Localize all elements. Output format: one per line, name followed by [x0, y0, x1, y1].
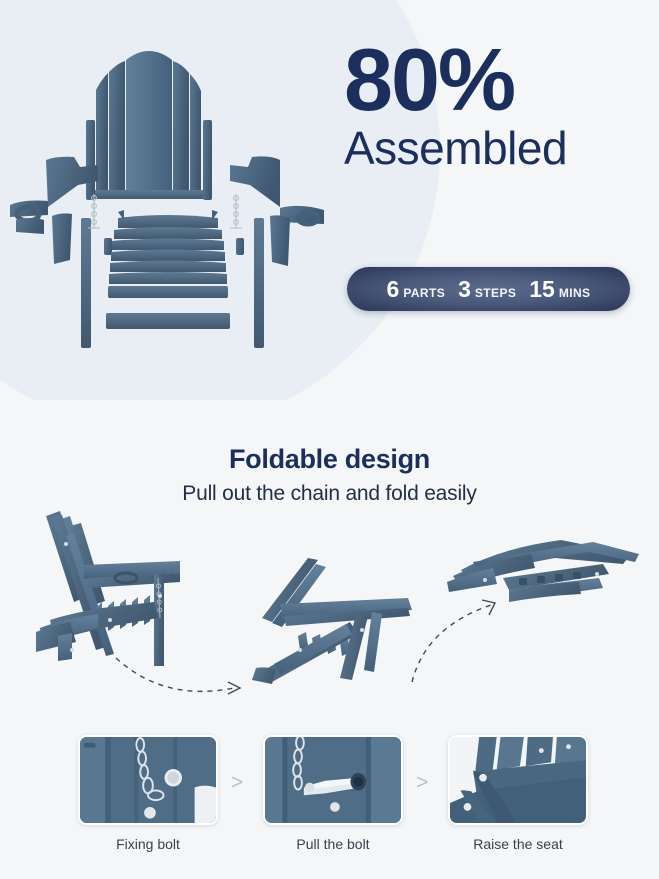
part-seat: [108, 210, 228, 298]
chair-flat-svg: [445, 522, 650, 627]
part-connector-left: [104, 238, 112, 255]
step-3-thumbnail: [448, 735, 588, 825]
exploded-parts-diagram: [8, 30, 338, 370]
part-leg-right: [254, 218, 264, 348]
stage-chair-folded-flat: [445, 522, 650, 627]
exploded-parts-svg: [8, 30, 338, 370]
stat-mins-unit: MINS: [559, 286, 591, 300]
percent-value: 80%: [344, 38, 644, 122]
part-chain-right: [230, 194, 242, 228]
step-1-image: [80, 737, 216, 824]
step-1-caption: Fixing bolt: [78, 836, 218, 852]
arrow-fold-1: [110, 648, 260, 708]
step-separator-1: >: [231, 771, 243, 795]
stat-mins: 15 MINS: [529, 276, 590, 303]
part-leg-left: [81, 218, 91, 348]
step-2-image: [265, 737, 401, 824]
step-2-caption: Pull the bolt: [263, 836, 403, 852]
part-leg-panel-left: [52, 213, 72, 264]
assembled-label: Assembled: [344, 124, 644, 174]
step-2-thumbnail: [263, 735, 403, 825]
stat-steps-number: 3: [458, 276, 471, 303]
part-leg-panel-right: [270, 215, 290, 266]
stat-parts-unit: PARTS: [403, 286, 445, 300]
part-cupholder-left: [10, 201, 48, 235]
step-separator-2: >: [416, 771, 428, 795]
part-stretcher: [106, 313, 230, 329]
stat-parts-number: 6: [387, 276, 400, 303]
step-item-3: Raise the seat: [448, 735, 588, 852]
infographic-page: 80% Assembled 6 PARTS 3 STEPS 15 MINS Fo…: [0, 0, 659, 879]
step-item-2: Pull the bolt: [263, 735, 403, 852]
stats-badge: 6 PARTS 3 STEPS 15 MINS: [347, 267, 630, 311]
step-3-caption: Raise the seat: [448, 836, 588, 852]
step-item-1: Fixing bolt: [78, 735, 218, 852]
stat-parts: 6 PARTS: [387, 276, 446, 303]
stat-mins-number: 15: [529, 276, 555, 303]
step-3-image: [450, 737, 586, 824]
step-1-thumbnail: [78, 735, 218, 825]
stat-steps-unit: STEPS: [475, 286, 516, 300]
steps-row: Fixing bolt >: [0, 735, 659, 865]
headline-block: 80% Assembled: [344, 38, 644, 174]
part-backrest: [86, 51, 212, 200]
folding-stages: [0, 500, 659, 705]
part-connector-right: [236, 238, 244, 255]
stat-steps: 3 STEPS: [458, 276, 516, 303]
foldable-title: Foldable design: [0, 444, 659, 475]
